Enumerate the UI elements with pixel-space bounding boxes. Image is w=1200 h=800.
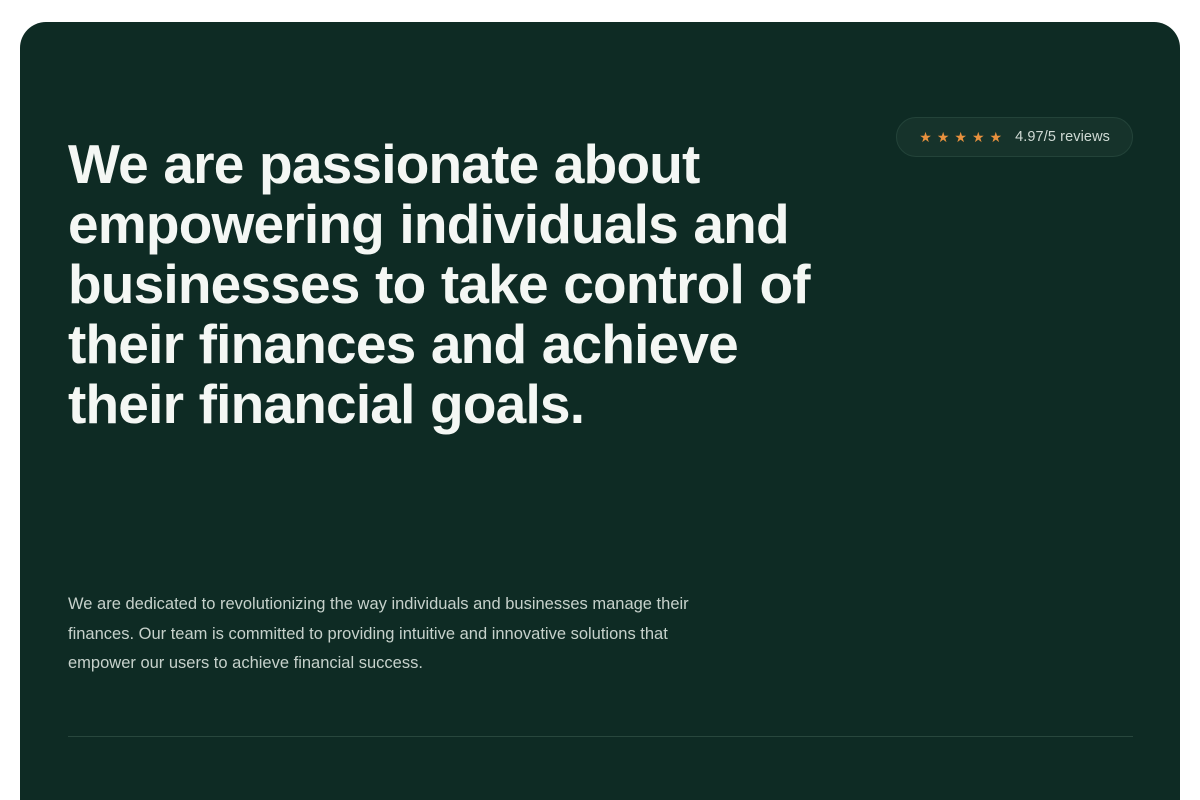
star-icon: ★ <box>954 130 967 144</box>
rating-label: 4.97/5 reviews <box>1015 130 1110 145</box>
rating-badge[interactable]: ★ ★ ★ ★ ★ 4.97/5 reviews <box>896 117 1133 157</box>
hero-headline: We are passionate about empowering indiv… <box>68 134 828 434</box>
star-icon: ★ <box>937 130 950 144</box>
page-root: ★ ★ ★ ★ ★ 4.97/5 reviews We are passiona… <box>0 0 1200 800</box>
star-icon: ★ <box>972 130 985 144</box>
hero-card: ★ ★ ★ ★ ★ 4.97/5 reviews We are passiona… <box>20 22 1180 800</box>
hero-content-wrapper: ★ ★ ★ ★ ★ 4.97/5 reviews We are passiona… <box>68 22 1133 800</box>
star-rating: ★ ★ ★ ★ ★ <box>919 130 1002 144</box>
star-icon: ★ <box>990 130 1003 144</box>
star-icon: ★ <box>919 130 932 144</box>
section-divider <box>68 736 1133 737</box>
hero-paragraph: We are dedicated to revolutionizing the … <box>68 590 740 679</box>
